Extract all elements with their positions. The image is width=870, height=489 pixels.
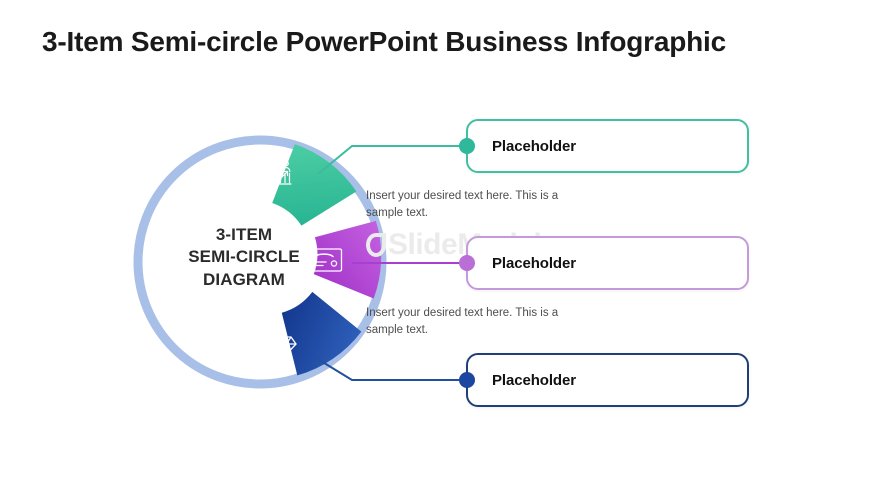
placeholder-card-label: Placeholder (492, 372, 576, 389)
description-text-1: Insert your desired text here. This is a… (366, 188, 566, 223)
card-connector-dot (459, 138, 475, 154)
description-text-2: Insert your desired text here. This is a… (366, 305, 566, 340)
connector-line-3 (316, 358, 466, 380)
slidemodel-drop-icon (366, 233, 386, 257)
placeholder-card-2[interactable]: Placeholder (466, 236, 749, 290)
connector-line-1 (318, 146, 466, 174)
card-connector-dot (459, 255, 475, 271)
placeholder-card-3[interactable]: Placeholder (466, 353, 749, 407)
placeholder-card-1[interactable]: Placeholder (466, 119, 749, 173)
card-connector-dot (459, 372, 475, 388)
placeholder-card-label: Placeholder (492, 255, 576, 272)
placeholder-card-label: Placeholder (492, 138, 576, 155)
